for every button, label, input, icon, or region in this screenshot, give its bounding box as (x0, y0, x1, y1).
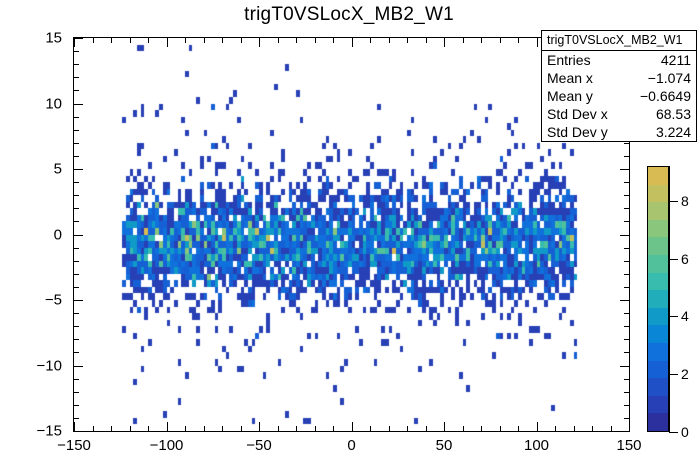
x-tick-top (93, 38, 94, 43)
y-tick-right (624, 261, 629, 262)
stats-row-key: Entries (547, 53, 597, 67)
x-tick-top (167, 38, 168, 47)
y-tick (74, 182, 79, 183)
color-scale-axis (669, 166, 670, 432)
x-tick-top (389, 38, 390, 43)
y-tick-right (624, 195, 629, 196)
x-tick (278, 426, 279, 431)
x-tick (315, 426, 316, 431)
x-tick-top (518, 38, 519, 43)
x-tick (500, 426, 501, 431)
x-tick-top (407, 38, 408, 43)
color-scale-band (648, 273, 668, 291)
y-tick-right (624, 339, 629, 340)
color-scale-band (648, 361, 668, 379)
y-axis-label: 15 (45, 30, 62, 47)
y-tick (74, 431, 83, 432)
y-tick (74, 221, 79, 222)
x-tick (629, 422, 630, 431)
y-tick-right (624, 392, 629, 393)
y-tick-right (624, 313, 629, 314)
color-scale-tick-label: 0 (681, 424, 689, 440)
y-tick-right (624, 208, 629, 209)
y-tick (74, 392, 79, 393)
x-tick-top (278, 38, 279, 43)
x-tick-top (111, 38, 112, 43)
y-tick (74, 313, 79, 314)
root-canvas: trigT0VSLocX_MB2_W1 −15−10−5051015 −150−… (0, 0, 698, 476)
x-tick (167, 422, 168, 431)
x-tick-top (204, 38, 205, 43)
y-tick-right (624, 418, 629, 419)
x-tick (111, 426, 112, 431)
y-tick (74, 90, 79, 91)
x-tick (481, 426, 482, 431)
x-tick (407, 426, 408, 431)
color-scale-band (648, 325, 668, 343)
color-scale-tick-label: 6 (681, 251, 689, 267)
x-tick (463, 426, 464, 431)
y-tick (74, 300, 83, 301)
x-tick (241, 426, 242, 431)
x-tick-top (444, 38, 445, 47)
color-scale-band (648, 255, 668, 273)
y-tick (74, 339, 79, 340)
y-tick-right (620, 431, 629, 432)
x-tick (370, 426, 371, 431)
y-tick (74, 379, 79, 380)
stats-box-title: trigT0VSLocX_MB2_W1 (542, 31, 696, 51)
y-tick (74, 261, 79, 262)
x-axis-label: −100 (150, 437, 184, 454)
stats-row: Mean y−0.6649 (542, 87, 696, 105)
y-tick-right (624, 352, 629, 353)
x-tick (333, 426, 334, 431)
y-tick (74, 352, 79, 353)
color-scale-band (648, 308, 668, 326)
x-tick-top (370, 38, 371, 43)
x-tick-top (537, 38, 538, 47)
y-tick (74, 77, 79, 78)
x-tick-top (259, 38, 260, 47)
x-tick-top (463, 38, 464, 43)
stats-row: Entries4211 (542, 51, 696, 69)
stats-box: trigT0VSLocX_MB2_W1 Entries4211Mean x−1.… (541, 30, 697, 142)
y-axis-label: −5 (45, 292, 62, 309)
color-scale-tick-label: 2 (681, 366, 689, 382)
y-tick-right (624, 248, 629, 249)
x-tick (93, 426, 94, 431)
color-scale-tick (669, 432, 678, 433)
y-tick (74, 117, 79, 118)
y-tick (74, 326, 79, 327)
x-tick-top (500, 38, 501, 43)
stats-row-key: Mean x (547, 71, 599, 85)
color-scale-tick (669, 259, 678, 260)
y-axis-label: −10 (37, 357, 62, 374)
stats-row-key: Std Dev x (547, 107, 614, 121)
page-title: trigT0VSLocX_MB2_W1 (0, 4, 698, 26)
y-tick (74, 156, 79, 157)
color-scale-bar (647, 166, 669, 432)
x-tick (204, 426, 205, 431)
x-axis-label: 150 (616, 437, 641, 454)
y-tick-right (620, 169, 629, 170)
y-axis-label: 5 (54, 161, 62, 178)
x-axis-label: −50 (246, 437, 271, 454)
color-scale-band (648, 220, 668, 238)
x-tick (185, 426, 186, 431)
y-tick (74, 169, 83, 170)
x-tick (611, 426, 612, 431)
color-scale-band (648, 167, 668, 185)
x-tick (352, 422, 353, 431)
stats-row-value: 68.53 (656, 107, 691, 121)
color-scale-band (648, 185, 668, 203)
y-tick-right (624, 405, 629, 406)
color-scale-tick-label: 8 (681, 193, 689, 209)
y-axis-label: 10 (45, 95, 62, 112)
x-axis-label: 100 (524, 437, 549, 454)
x-tick-top (148, 38, 149, 43)
y-tick (74, 130, 79, 131)
y-tick (74, 235, 83, 236)
x-tick-top (130, 38, 131, 43)
y-tick-right (624, 379, 629, 380)
y-tick (74, 418, 79, 419)
y-tick (74, 51, 79, 52)
y-tick-right (620, 366, 629, 367)
stats-box-rows: Entries4211Mean x−1.074Mean y−0.6649Std … (542, 51, 696, 141)
y-tick (74, 143, 79, 144)
x-tick (537, 422, 538, 431)
stats-row: Std Dev y3.224 (542, 123, 696, 141)
color-scale-tick (669, 316, 678, 317)
stats-row-value: 3.224 (656, 125, 691, 139)
x-tick (222, 426, 223, 431)
x-tick (389, 426, 390, 431)
color-scale-tick-label: 4 (681, 308, 689, 324)
stats-row-value: −1.074 (648, 71, 691, 85)
y-tick (74, 366, 83, 367)
y-tick (74, 38, 83, 39)
x-tick (259, 422, 260, 431)
x-tick-top (315, 38, 316, 43)
x-axis-label: 50 (436, 437, 453, 454)
x-tick-top (296, 38, 297, 43)
color-scale-band (648, 202, 668, 220)
x-tick (148, 426, 149, 431)
stats-row-value: −0.6649 (640, 89, 691, 103)
y-tick-right (624, 156, 629, 157)
y-tick (74, 104, 83, 105)
x-tick-top (74, 38, 75, 47)
color-scale-band (648, 396, 668, 414)
y-tick (74, 248, 79, 249)
color-scale-band (648, 413, 668, 431)
x-tick (555, 426, 556, 431)
stats-row: Mean x−1.074 (542, 69, 696, 87)
x-tick (574, 426, 575, 431)
x-axis-label: 0 (347, 437, 355, 454)
y-tick (74, 195, 79, 196)
color-scale-band (648, 378, 668, 396)
stats-row-key: Std Dev y (547, 125, 614, 139)
y-tick-right (624, 221, 629, 222)
x-tick (592, 426, 593, 431)
color-scale-band (648, 343, 668, 361)
y-tick-right (620, 235, 629, 236)
y-tick-right (624, 274, 629, 275)
y-tick-right (624, 287, 629, 288)
x-tick-top (352, 38, 353, 47)
x-tick (426, 426, 427, 431)
x-tick-top (426, 38, 427, 43)
stats-row-key: Mean y (547, 89, 599, 103)
x-tick-top (185, 38, 186, 43)
y-tick (74, 208, 79, 209)
x-tick-top (481, 38, 482, 43)
color-scale-band (648, 290, 668, 308)
y-tick (74, 64, 79, 65)
color-scale-band (648, 237, 668, 255)
x-axis-label: −150 (57, 437, 91, 454)
y-tick (74, 287, 79, 288)
x-tick-top (241, 38, 242, 43)
x-tick-top (333, 38, 334, 43)
y-tick-right (624, 182, 629, 183)
y-axis-label: 0 (54, 226, 62, 243)
x-tick (296, 426, 297, 431)
y-tick-right (624, 143, 629, 144)
x-tick (130, 426, 131, 431)
stats-row-value: 4211 (661, 53, 691, 67)
x-tick (444, 422, 445, 431)
x-tick (74, 422, 75, 431)
y-tick-right (624, 326, 629, 327)
y-tick (74, 405, 79, 406)
x-tick (518, 426, 519, 431)
y-tick (74, 274, 79, 275)
color-scale-tick (669, 374, 678, 375)
y-tick-right (620, 300, 629, 301)
stats-row: Std Dev x68.53 (542, 105, 696, 123)
color-scale-tick (669, 201, 678, 202)
x-tick-top (222, 38, 223, 43)
